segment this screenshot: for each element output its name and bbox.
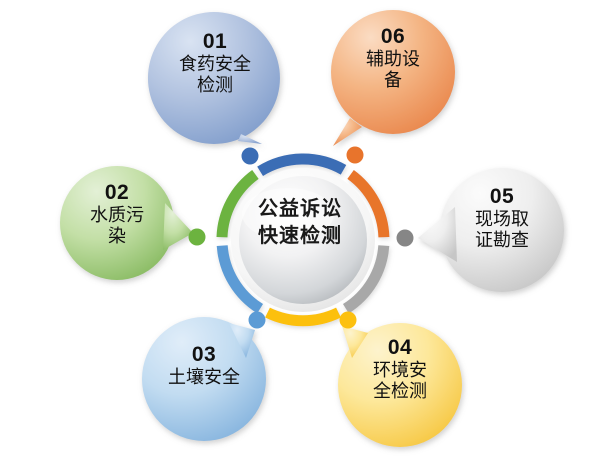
ring-segment-yellow [268, 313, 339, 321]
node-bubble-02[interactable] [60, 166, 193, 280]
connector-dot-04 [340, 312, 357, 329]
node-bubble-01-tail [238, 134, 262, 144]
node-bubble-05-tail [418, 207, 457, 262]
diagram-graphics [0, 0, 607, 458]
connector-dot-02 [189, 229, 206, 246]
node-bubble-03[interactable] [142, 317, 266, 441]
node-bubble-06-shape[interactable] [331, 10, 455, 134]
node-bubble-06[interactable] [331, 10, 455, 146]
center-node [231, 168, 375, 312]
node-bubble-05-shape[interactable] [440, 168, 564, 292]
connector-dot-06 [347, 147, 364, 164]
node-bubble-01[interactable] [148, 12, 280, 144]
node-bubble-02-shape[interactable] [60, 166, 174, 280]
connector-dot-03 [249, 312, 266, 329]
node-bubble-02-tail [163, 203, 193, 250]
node-bubble-04[interactable] [338, 323, 462, 447]
node-bubble-05[interactable] [418, 168, 564, 292]
connector-dot-05 [397, 230, 414, 247]
connector-dot-01 [242, 148, 259, 165]
infographic-diagram: 公益诉讼 快速检测 01 食药安全 检测 06 辅助设 备 02 水质污 染 0… [0, 0, 607, 458]
node-bubble-01-shape[interactable] [148, 12, 280, 144]
